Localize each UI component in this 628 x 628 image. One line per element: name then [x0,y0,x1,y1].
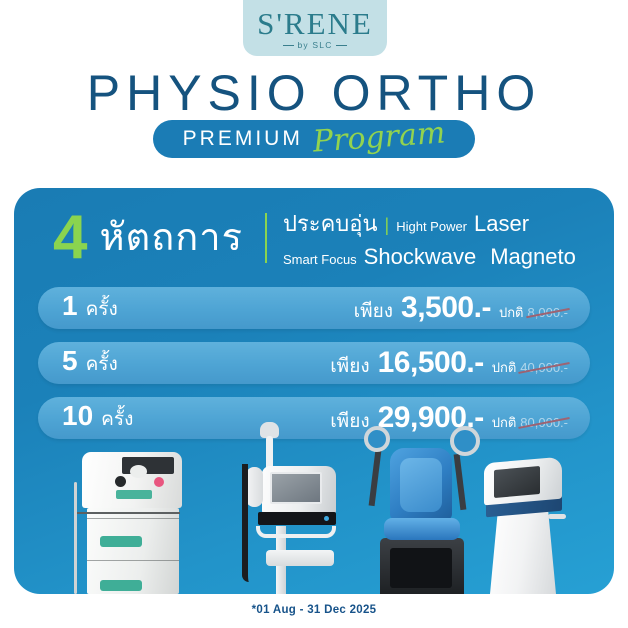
treatment-line-2: Smart Focus Shockwave Magneto [283,244,576,270]
price-row-amounts: เพียง 16,500.- ปกติ 40,000.- [330,346,568,381]
treatment-count-label: หัตถการ [99,219,243,257]
equipment-photo-strip [14,434,614,594]
price-original: 80,000.- [520,415,568,430]
treatment-count-number: 4 [53,207,87,269]
console-touchscreen [494,466,540,498]
shockwave-display [270,472,322,504]
validity-note: *01 Aug - 31 Dec 2025 [0,604,628,616]
quantity-unit: ครั้ง [86,349,118,379]
price-row-quantity: 5 ครั้ง [62,347,118,379]
treatment-headline: 4 หัตถการ ประคบอุ่น | Hight Power Laser … [14,200,614,276]
price-prefix: เพียง [354,296,393,326]
brand-logo: S'RENE by SLC [243,0,387,56]
treatment-qualifier-laser: Hight Power [396,219,467,234]
price-original-wrap: ปกติ 40,000.- [492,357,568,378]
quantity-unit: ครั้ง [86,294,118,324]
treatment-list: ประคบอุ่น | Hight Power Laser Smart Focu… [283,206,576,270]
price-original-wrap: ปกติ 8,000.- [499,302,568,323]
price-prefix: เพียง [330,351,369,381]
price-row-amounts: เพียง 3,500.- ปกติ 8,000.- [354,291,568,326]
laser-arm-bar [74,512,180,514]
price-original: 8,000.- [528,305,568,320]
laser-teal-panel [116,490,152,499]
shockwave-stand-shelf [266,550,334,566]
quantity-unit: ครั้ง [101,404,133,434]
therapy-console-photo [482,460,568,594]
price-row-quantity: 1 ครั้ง [62,292,118,324]
shockwave-power-led [324,516,329,521]
treatment-name-magneto: Magneto [490,244,576,270]
treatment-name-shockwave: Shockwave [364,244,477,270]
premium-label: PREMIUM [183,127,303,151]
price-row-quantity: 10 ครั้ง [62,402,133,434]
laser-seam-upper [87,518,179,519]
quantity-number: 10 [62,402,93,430]
brand-logo-tagline: by SLC [283,40,346,50]
price-original-label: ปกติ [499,302,524,323]
laser-drawer-handle-lower [100,580,142,591]
magneto-coil-left [364,426,390,452]
quantity-number: 1 [62,292,78,320]
console-pedestal [490,510,556,594]
price-original-wrap: ปกติ 80,000.- [492,412,568,433]
headline-divider [265,213,267,263]
laser-black-button [115,476,126,487]
price-row[interactable]: 1 ครั้ง เพียง 3,500.- ปกติ 8,000.- [38,287,590,329]
offer-panel: 4 หัตถการ ประคบอุ่น | Hight Power Laser … [14,188,614,594]
laser-machine-photo [74,452,182,594]
laser-drawer-handle-upper [100,536,142,547]
magneto-base-panel [390,548,452,588]
treatment-qualifier-shockwave: Smart Focus [283,252,357,267]
brand-logo-wordmark: S'RENE [257,8,373,39]
shockwave-machine-photo [236,422,336,594]
treatment-line-1: ประคบอุ่น | Hight Power Laser [283,206,576,241]
program-label: Program [312,115,447,159]
laser-seam-lower [87,560,179,561]
price-current: 3,500.- [401,291,491,325]
laser-head-unit [82,452,182,508]
price-original-label: ปกติ [492,412,517,433]
page-title: PHYSIO ORTHO [0,68,628,118]
price-current: 16,500.- [378,346,484,380]
price-original: 40,000.- [520,360,568,375]
magneto-chair-seat [384,518,460,540]
console-accessory-hook [548,514,566,519]
shockwave-handle [256,526,336,538]
premium-program-badge: PREMIUM Program [153,120,475,158]
magneto-arm-right [454,454,467,510]
promo-poster: S'RENE by SLC PHYSIO ORTHO PREMIUM Progr… [0,0,628,628]
magneto-chair-cushion [400,458,442,512]
magneto-coil-right [450,426,480,456]
price-original-label: ปกติ [492,357,517,378]
treatment-name-warm-compress: ประคบอุ่น [283,206,378,241]
laser-knob [130,465,147,478]
shockwave-cable [242,464,249,582]
treatment-name-laser: Laser [474,211,529,237]
price-row[interactable]: 5 ครั้ง เพียง 16,500.- ปกติ 40,000.- [38,342,590,384]
quantity-number: 5 [62,347,78,375]
magneto-chair-photo [364,426,480,594]
magneto-arm-left [369,450,382,506]
laser-pink-button [154,477,164,487]
treatment-separator-1: | [385,215,390,236]
laser-applicator-cable [74,482,77,594]
